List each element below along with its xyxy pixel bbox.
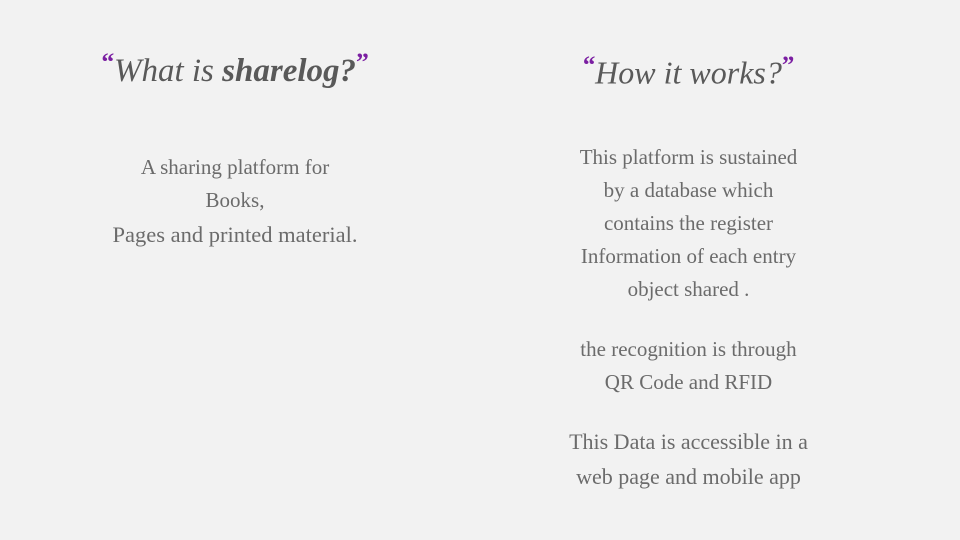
paragraph-intro: A sharing platform for Books, Pages and … <box>40 151 430 253</box>
paragraph-line: contains the register <box>496 207 881 240</box>
paragraph-line: Books, <box>40 184 430 217</box>
column-how-it-works: “How it works?” This platform is sustain… <box>496 0 881 494</box>
open-quote-icon: “ <box>101 47 114 76</box>
close-quote-icon: ” <box>356 47 369 76</box>
paragraph-line: the recognition is through <box>496 333 881 366</box>
paragraph-line: by a database which <box>496 174 881 207</box>
paragraph-line: web page and mobile app <box>496 460 881 495</box>
paragraph-recognition: the recognition is through QR Code and R… <box>496 333 881 399</box>
paragraph-line: Pages and printed material. <box>40 217 430 253</box>
heading-what-is-sharelog: “What is sharelog?” <box>40 0 430 89</box>
heading-how-it-works: “How it works?” <box>496 0 881 91</box>
paragraph-line: QR Code and RFID <box>496 366 881 399</box>
paragraph-database: This platform is sustained by a database… <box>496 141 881 307</box>
open-quote-icon: “ <box>583 52 595 79</box>
paragraph-line: This platform is sustained <box>496 141 881 174</box>
paragraph-access: This Data is accessible in a web page an… <box>496 425 881 495</box>
heading-lead-text: What is <box>114 53 222 89</box>
column-what-is-sharelog: “What is sharelog?” A sharing platform f… <box>40 0 430 253</box>
paragraph-line: object shared . <box>496 273 881 306</box>
heading-emphasis-text: sharelog? <box>222 53 356 89</box>
paragraph-line: This Data is accessible in a <box>496 425 881 460</box>
paragraph-line: Information of each entry <box>496 240 881 273</box>
body-what-is-sharelog: A sharing platform for Books, Pages and … <box>40 89 430 253</box>
paragraph-line: A sharing platform for <box>40 151 430 184</box>
heading-lead-text: How it works? <box>595 54 782 90</box>
body-how-it-works: This platform is sustained by a database… <box>496 91 881 495</box>
close-quote-icon: ” <box>782 52 794 79</box>
slide-canvas: “What is sharelog?” A sharing platform f… <box>0 0 960 540</box>
